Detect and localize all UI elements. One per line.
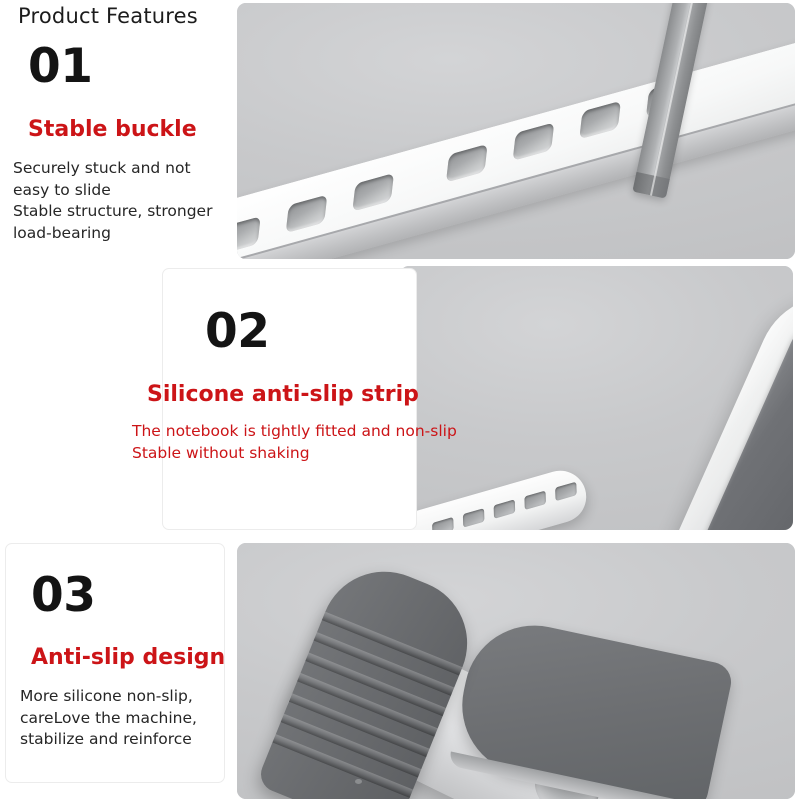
feature-number-03: 03 — [31, 573, 95, 619]
feature-body-line: Securely stuck and not — [13, 158, 212, 180]
rail-notch — [580, 100, 622, 139]
feature-photo-01 — [237, 3, 795, 259]
feature-text-03: 03 Anti-slip design More silicone non-sl… — [5, 543, 225, 783]
feature-body-01: Securely stuck and not easy to slide Sta… — [13, 158, 212, 245]
bar-slot — [524, 491, 546, 510]
feature-body-line: load-bearing — [13, 223, 212, 245]
feature-body-line: easy to slide — [13, 180, 212, 202]
rail-notch — [237, 216, 261, 255]
rail-notch — [353, 173, 395, 212]
feature-number-02: 02 — [205, 309, 269, 355]
feature-body-line: stabilize and reinforce — [20, 729, 197, 751]
feature-photo-02 — [400, 266, 793, 530]
feature-headline-03: Anti-slip design — [31, 646, 225, 670]
rail-notch — [446, 144, 488, 183]
feature-body-line: More silicone non-slip, — [20, 686, 197, 708]
base-pin-hole — [355, 779, 362, 784]
feature-body-03: More silicone non-slip, careLove the mac… — [20, 686, 197, 751]
feature-body-line: Stable structure, stronger — [13, 201, 212, 223]
feature-text-02: 02 Silicone anti-slip strip The notebook… — [162, 268, 417, 530]
feature-headline-02: Silicone anti-slip strip — [147, 383, 419, 407]
bar-slot — [463, 508, 485, 527]
rail-notch — [286, 194, 328, 233]
page-title: Product Features — [18, 4, 198, 28]
feature-photo-03 — [237, 543, 795, 799]
feature-headline-01: Stable buckle — [28, 118, 197, 142]
feature-body-line: careLove the machine, — [20, 708, 197, 730]
feature-number-01: 01 — [28, 44, 92, 90]
bar-slot — [494, 499, 516, 518]
bar-slot — [432, 517, 454, 530]
infographic-page: Product Features 01 Stable — [0, 0, 800, 800]
feature-body-02: The notebook is tightly fitted and non-s… — [132, 421, 457, 464]
bar-slot — [555, 482, 577, 501]
rail-notch — [513, 122, 555, 161]
feature-body-line: The notebook is tightly fitted and non-s… — [132, 421, 457, 443]
feature-text-01: 01 Stable buckle Securely stuck and not … — [0, 26, 228, 242]
feature-body-line: Stable without shaking — [132, 443, 457, 465]
